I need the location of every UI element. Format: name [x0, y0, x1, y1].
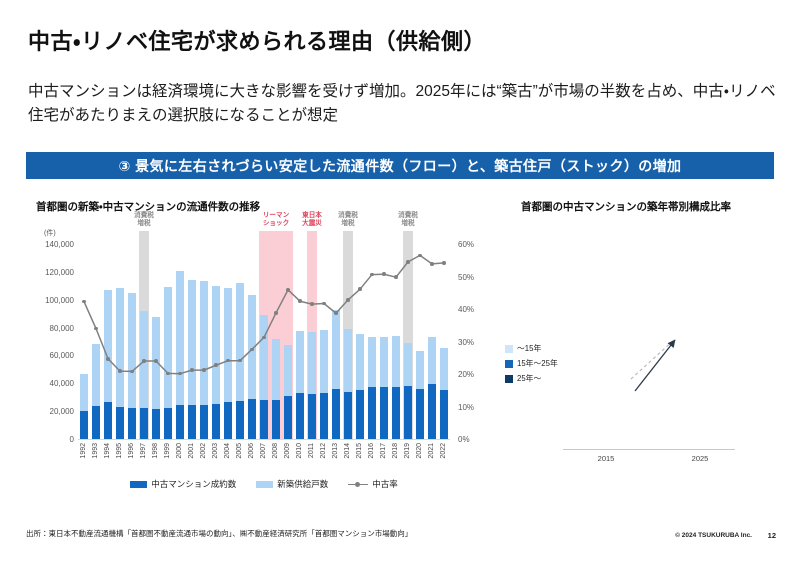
y-tick-label: 120,000	[30, 268, 74, 277]
line-marker	[202, 368, 206, 372]
copyright-text: © 2024 TSUKURUBA Inc.	[675, 532, 752, 539]
line-marker	[142, 359, 146, 363]
legend-swatch-under15-icon	[505, 345, 513, 353]
y-tick-label: 20,000	[30, 407, 74, 416]
legend-swatch-15to25-icon	[505, 360, 513, 368]
section-heading-bar: ③ 景気に左右されづらい安定した流通件数（フロー）と、築古住戸（ストック）の増加	[26, 152, 774, 179]
page-title: 中古・リノベ住宅が求められる理由（供給側）	[28, 24, 486, 56]
section-heading-text: ③ 景気に左右されづらい安定した流通件数（フロー）と、築古住戸（ストック）の増加	[119, 156, 682, 176]
x-tick-label: 1997	[140, 443, 147, 459]
y2-tick-label: 0%	[458, 435, 488, 444]
legend-swatch-over25-icon	[505, 375, 513, 383]
event-annotation-label: 消費税増税	[122, 212, 166, 228]
y2-tick-label: 20%	[458, 370, 488, 379]
y-tick-label: 60,000	[30, 351, 74, 360]
line-marker	[262, 336, 266, 340]
line-marker	[286, 288, 290, 292]
right-chart-title: 首都圏の中古マンションの築年帯別構成比率	[521, 199, 731, 214]
x-tick-label: 2006	[248, 443, 255, 459]
x-tick-label: 2002	[200, 443, 207, 459]
line-marker	[334, 311, 338, 315]
legend-swatch-new-icon	[256, 481, 273, 488]
x-tick-label: 2021	[428, 443, 435, 459]
legend-item-over25: 25年～	[505, 372, 558, 387]
x-tick-label: 1998	[152, 443, 159, 459]
x-tick-label: 2009	[284, 443, 291, 459]
line-marker	[154, 359, 158, 363]
x-tick-label: 2001	[188, 443, 195, 459]
line-marker	[406, 260, 410, 264]
line-marker	[418, 254, 422, 258]
line-marker	[82, 300, 86, 304]
page-number: 12	[768, 531, 776, 540]
line-marker	[250, 348, 254, 352]
legend-item-rate: 中古率	[348, 478, 398, 490]
x-tick-label: 2022	[440, 443, 447, 459]
x-tick-label: 2008	[272, 443, 279, 459]
line-marker	[106, 357, 110, 361]
line-marker	[214, 363, 218, 367]
line-marker	[166, 372, 170, 376]
source-note: 出所：東日本不動産流通機構「首都圏不動産流通市場の動向」、㈱不動産経済研究所「首…	[26, 528, 412, 539]
x-tick-label: 1996	[128, 443, 135, 459]
x-tick-label: 1994	[104, 443, 111, 459]
x-tick-label: 2005	[236, 443, 243, 459]
y-tick-label: 100,000	[30, 296, 74, 305]
legend-swatch-rate-icon	[348, 481, 368, 488]
line-marker	[442, 261, 446, 265]
x-tick-label: 2016	[368, 443, 375, 459]
legend-label-rate: 中古率	[372, 478, 398, 490]
legend-label-under15: ～15年	[517, 342, 541, 357]
stock-x-tick-label: 2015	[576, 454, 636, 463]
y2-tick-label: 60%	[458, 240, 488, 249]
legend-label-over25: 25年～	[517, 372, 541, 387]
y-tick-label: 80,000	[30, 324, 74, 333]
flow-legend: 中古マンション成約数 新築供給戸数 中古率	[78, 478, 450, 490]
line-marker	[430, 262, 434, 266]
line-marker	[190, 368, 194, 372]
stock-legend: ～15年 15年～25年 25年～	[505, 342, 558, 386]
line-marker	[310, 302, 314, 306]
x-tick-label: 2003	[212, 443, 219, 459]
legend-label-15to25: 15年～25年	[517, 357, 558, 372]
line-marker	[358, 287, 362, 291]
line-marker	[298, 299, 302, 303]
stock-x-tick-label: 2025	[670, 454, 730, 463]
stock-plot-area: 20152025	[563, 228, 735, 450]
slide-canvas: 中古・リノベ住宅が求められる理由（供給側） 中古マンションは経済環境に大きな影響…	[0, 0, 800, 565]
line-marker	[130, 370, 134, 374]
legend-item-new: 新築供給戸数	[256, 478, 328, 490]
x-tick-label: 2010	[296, 443, 303, 459]
x-tick-label: 1993	[92, 443, 99, 459]
left-chart-unit-label: (件)	[44, 228, 56, 238]
x-tick-label: 2018	[392, 443, 399, 459]
x-tick-label: 2019	[404, 443, 411, 459]
x-tick-label: 2014	[344, 443, 351, 459]
event-annotation-label: 消費税増税	[386, 212, 430, 228]
x-tick-label: 1992	[80, 443, 87, 459]
line-marker	[118, 369, 122, 373]
x-tick-label: 2000	[176, 443, 183, 459]
y2-tick-label: 50%	[458, 273, 488, 282]
x-tick-label: 1999	[164, 443, 171, 459]
x-tick-label: 2015	[356, 443, 363, 459]
stock-chart: ～15年 15年～25年 25年～ 20152025	[505, 222, 785, 480]
growth-arrow-icon	[563, 228, 735, 450]
line-marker	[382, 272, 386, 276]
flow-chart: (件) 140,000120,000100,00080,00060,00040,…	[30, 228, 490, 503]
y-tick-label: 40,000	[30, 379, 74, 388]
y2-tick-label: 10%	[458, 403, 488, 412]
x-tick-label: 2011	[308, 443, 315, 458]
y2-tick-label: 30%	[458, 338, 488, 347]
y2-tick-label: 40%	[458, 305, 488, 314]
legend-label-used: 中古マンション成約数	[151, 478, 236, 490]
x-tick-label: 2007	[260, 443, 267, 459]
flow-plot-area: 消費税増税リーマンショック東日本大震災消費税増税消費税増税	[78, 245, 450, 440]
x-tick-label: 2012	[320, 443, 327, 459]
legend-item-15to25: 15年～25年	[505, 357, 558, 372]
used-ratio-line	[78, 245, 450, 440]
x-tick-label: 2004	[224, 443, 231, 459]
legend-item-used: 中古マンション成約数	[130, 478, 236, 490]
event-annotation-label: 消費税増税	[326, 212, 370, 228]
line-marker	[394, 275, 398, 279]
line-marker	[322, 302, 326, 306]
y-tick-label: 140,000	[30, 240, 74, 249]
slide-lede: 中古マンションは経済環境に大きな影響を受けず増加。2025年には“築古”が市場の…	[28, 80, 776, 128]
legend-swatch-used-icon	[130, 481, 147, 488]
line-marker	[94, 327, 98, 331]
x-tick-label: 2017	[380, 443, 387, 459]
x-tick-label: 1995	[116, 443, 123, 459]
x-tick-label: 2020	[416, 443, 423, 459]
x-tick-label: 2013	[332, 443, 339, 459]
legend-item-under15: ～15年	[505, 342, 558, 357]
legend-label-new: 新築供給戸数	[277, 478, 328, 490]
line-marker	[274, 311, 278, 315]
line-marker	[346, 298, 350, 302]
y-tick-label: 0	[30, 435, 74, 444]
